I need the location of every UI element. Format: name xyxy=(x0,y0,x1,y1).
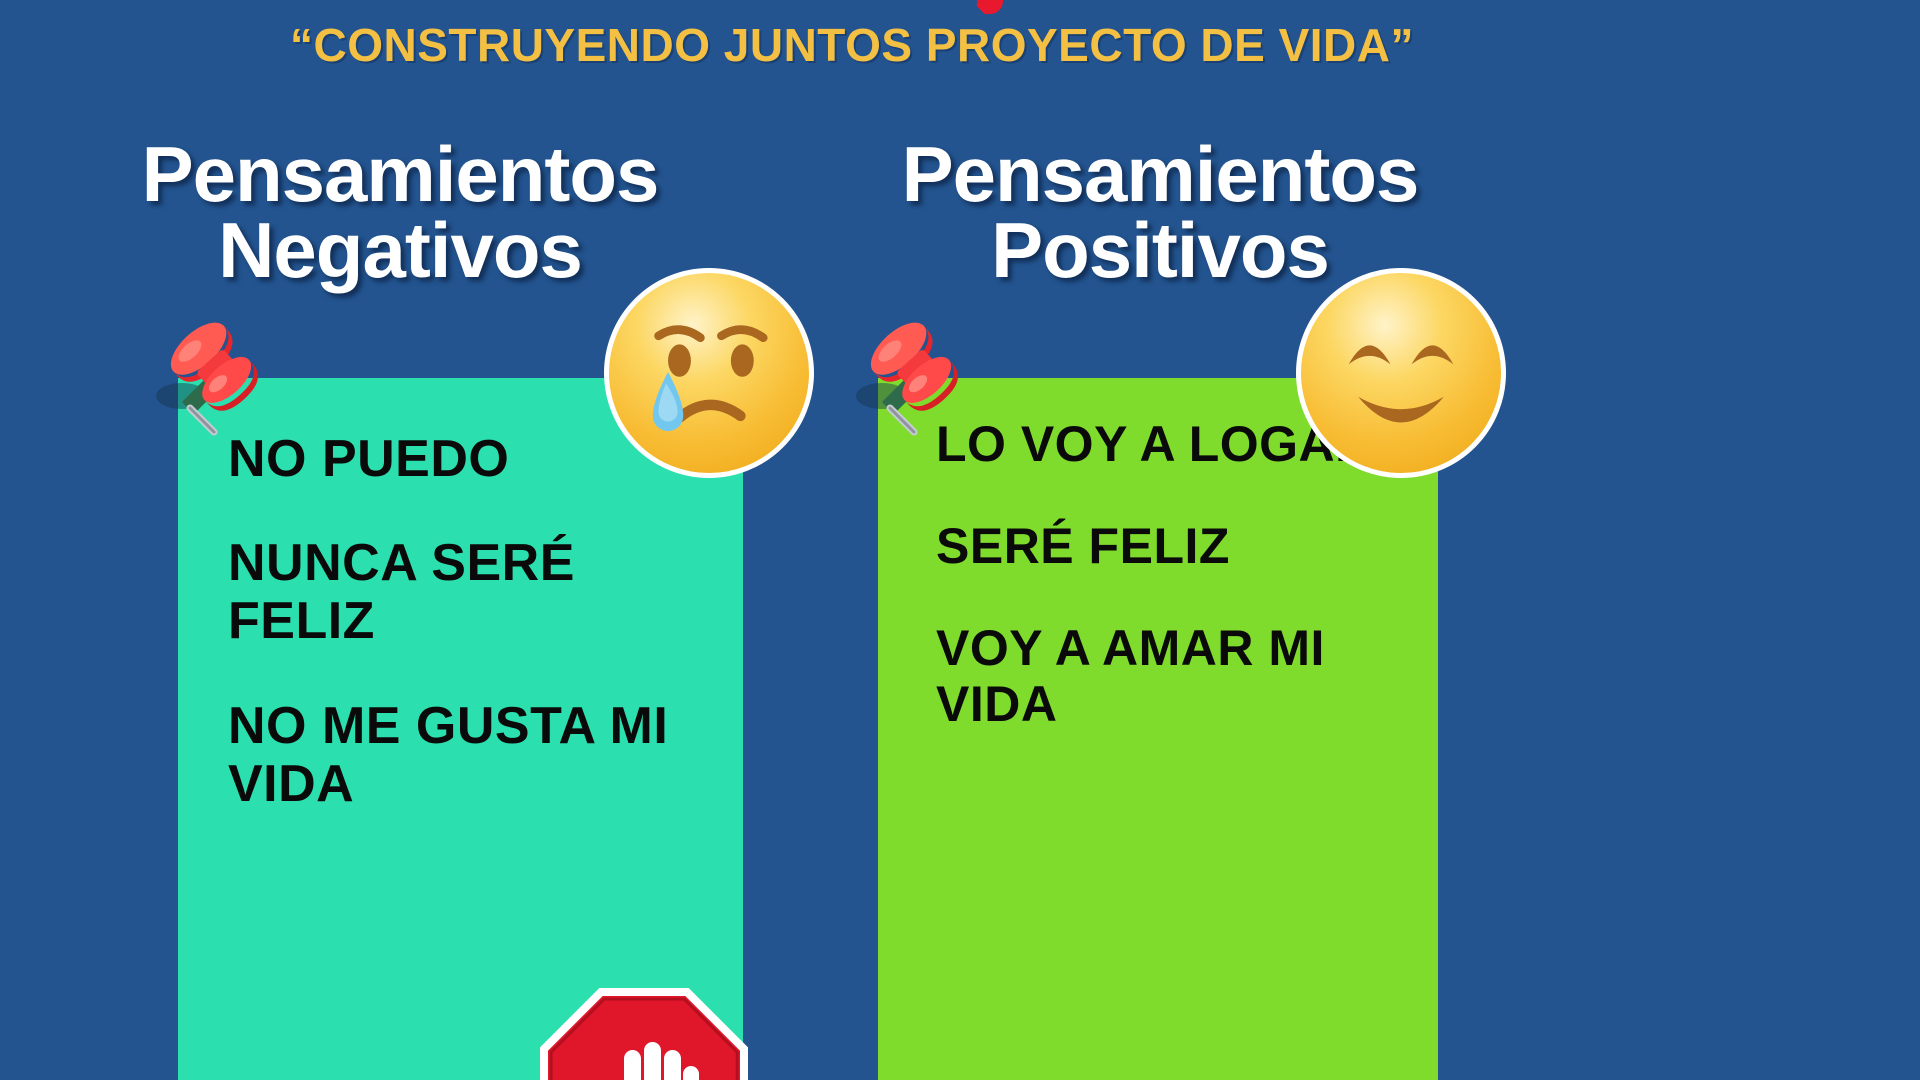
note-negative-line-2: NUNCA SERÉ FELIZ xyxy=(228,534,725,650)
map-marker-tip xyxy=(972,0,1009,19)
smiling-face-emoji xyxy=(1296,268,1506,478)
sticky-note-negative-text: NO PUEDO NUNCA SERÉ FELIZ NO ME GUSTA MI… xyxy=(228,430,725,813)
slide-headline: “CONSTRUYENDO JUNTOS PROYECTO DE VIDA” xyxy=(0,18,1920,72)
note-positive-line-2: SERÉ FELIZ xyxy=(936,518,1420,574)
sticky-note-positive: LO VOY A LOGAR. SERÉ FELIZ VOY A AMAR MI… xyxy=(878,378,1438,1080)
sticky-note-negative: NO PUEDO NUNCA SERÉ FELIZ NO ME GUSTA MI… xyxy=(178,378,743,1080)
crying-face-emoji xyxy=(604,268,814,478)
headline-text: “CONSTRUYENDO JUNTOS PROYECTO DE VIDA” xyxy=(290,18,1414,72)
heading-positive-line-1: Pensamientos xyxy=(902,130,1419,218)
heading-negative-line-2: Negativos xyxy=(80,212,720,288)
note-positive-line-3: VOY A AMAR MI VIDA xyxy=(936,620,1420,732)
heading-pensamientos-negativos: Pensamientos Negativos xyxy=(80,136,720,289)
note-negative-line-3: NO ME GUSTA MI VIDA xyxy=(228,697,725,813)
slide-canvas: “CONSTRUYENDO JUNTOS PROYECTO DE VIDA” P… xyxy=(0,0,1920,1080)
stop-sign-icon xyxy=(540,988,748,1080)
heading-pensamientos-positivos: Pensamientos Positivos xyxy=(840,136,1480,289)
heading-negative-line-1: Pensamientos xyxy=(142,130,659,218)
